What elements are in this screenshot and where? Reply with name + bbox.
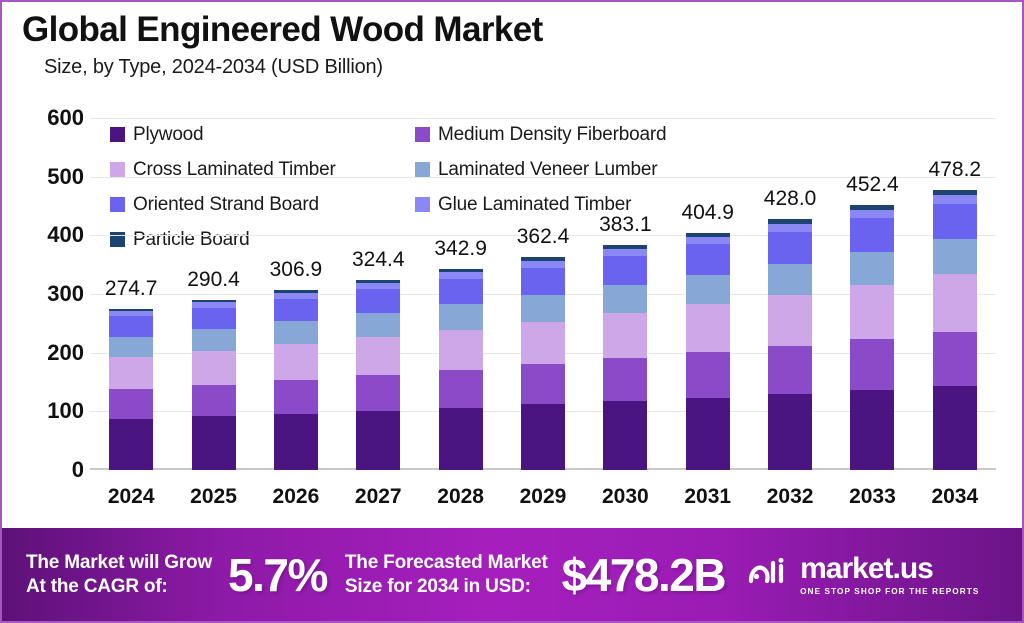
cagr-value: 5.7% bbox=[228, 548, 327, 602]
page-title: Global Engineered Wood Market bbox=[2, 10, 1024, 50]
x-axis: 2024202520262027202820292030203120322033… bbox=[90, 485, 996, 515]
bar-segment[interactable] bbox=[109, 316, 153, 337]
bar-segment[interactable] bbox=[603, 358, 647, 401]
bar-segment[interactable] bbox=[274, 344, 318, 380]
market-us-logo-icon bbox=[747, 557, 791, 592]
bar-stack[interactable]: 324.4 bbox=[356, 280, 400, 470]
bar-segment[interactable] bbox=[192, 351, 236, 385]
bar-segment[interactable] bbox=[274, 380, 318, 414]
x-axis-tick-label: 2033 bbox=[831, 485, 913, 509]
bar-stack[interactable]: 306.9 bbox=[274, 290, 318, 470]
bar-segment[interactable] bbox=[521, 364, 565, 404]
bar-segment[interactable] bbox=[686, 244, 730, 274]
cagr-caption-line2: At the CAGR of: bbox=[26, 575, 212, 598]
bar-segment[interactable] bbox=[356, 411, 400, 470]
bar-segment[interactable] bbox=[109, 419, 153, 470]
bar-segment[interactable] bbox=[850, 218, 894, 252]
bar-segment[interactable] bbox=[439, 304, 483, 329]
forecast-value: $478.2B bbox=[562, 548, 725, 602]
x-axis-tick-label: 2031 bbox=[667, 485, 749, 509]
bar-segment[interactable] bbox=[109, 389, 153, 419]
y-axis-tick-label: 200 bbox=[10, 340, 84, 366]
bar-segment[interactable] bbox=[192, 329, 236, 351]
bar-total-label: 290.4 bbox=[187, 268, 240, 292]
gridline bbox=[90, 118, 996, 119]
bar-segment[interactable] bbox=[439, 279, 483, 305]
x-axis-tick-label: 2032 bbox=[749, 485, 831, 509]
bar-stack[interactable]: 362.4 bbox=[521, 257, 565, 470]
bar-stack[interactable]: 274.7 bbox=[109, 309, 153, 470]
bar-segment[interactable] bbox=[521, 404, 565, 470]
bar-segment[interactable] bbox=[933, 239, 977, 274]
y-axis-tick-label: 400 bbox=[10, 222, 84, 248]
bar-total-label: 452.4 bbox=[846, 173, 899, 197]
bar-total-label: 478.2 bbox=[929, 158, 982, 182]
bar-segment[interactable] bbox=[768, 394, 812, 470]
y-axis: 0100200300400500600 bbox=[10, 118, 84, 470]
brand-tagline: ONE STOP SHOP FOR THE REPORTS bbox=[800, 587, 979, 596]
bar-segment[interactable] bbox=[850, 390, 894, 470]
bar-total-label: 404.9 bbox=[681, 201, 734, 225]
header: Global Engineered Wood Market Size, by T… bbox=[2, 10, 1024, 79]
bar-segment[interactable] bbox=[439, 370, 483, 408]
bar-segment[interactable] bbox=[686, 237, 730, 245]
bar-total-label: 362.4 bbox=[517, 225, 570, 249]
bar-segment[interactable] bbox=[274, 299, 318, 322]
bar-segment[interactable] bbox=[109, 357, 153, 389]
bar-segment[interactable] bbox=[933, 332, 977, 386]
x-axis-tick-label: 2029 bbox=[502, 485, 584, 509]
x-axis-tick-label: 2025 bbox=[172, 485, 254, 509]
bar-segment[interactable] bbox=[192, 308, 236, 330]
bar-segment[interactable] bbox=[356, 337, 400, 375]
forecast-caption: The Forecasted Market Size for 2034 in U… bbox=[345, 551, 548, 597]
bar-segment[interactable] bbox=[521, 295, 565, 322]
cagr-caption-line1: The Market will Grow bbox=[26, 551, 212, 574]
infographic-root: Global Engineered Wood Market Size, by T… bbox=[0, 0, 1024, 623]
bar-segment[interactable] bbox=[521, 322, 565, 365]
plot-area: 274.7290.4306.9324.4342.9362.4383.1404.9… bbox=[90, 118, 996, 470]
bar-segment[interactable] bbox=[439, 330, 483, 370]
bar-segment[interactable] bbox=[850, 252, 894, 285]
y-axis-tick-label: 600 bbox=[10, 105, 84, 131]
bar-total-label: 274.7 bbox=[105, 277, 158, 301]
x-axis-tick-label: 2028 bbox=[419, 485, 501, 509]
bar-segment[interactable] bbox=[768, 224, 812, 232]
bar-segment[interactable] bbox=[274, 414, 318, 470]
bar-segment[interactable] bbox=[356, 313, 400, 337]
bar-segment[interactable] bbox=[192, 385, 236, 417]
bar-stack[interactable]: 452.4 bbox=[850, 205, 894, 470]
bar-segment[interactable] bbox=[686, 398, 730, 471]
y-axis-tick-label: 100 bbox=[10, 398, 84, 424]
x-axis-tick-label: 2034 bbox=[914, 485, 996, 509]
bar-segment[interactable] bbox=[933, 386, 977, 470]
forecast-caption-line1: The Forecasted Market bbox=[345, 551, 548, 574]
bar-total-label: 428.0 bbox=[764, 187, 817, 211]
bar-total-label: 306.9 bbox=[270, 258, 323, 282]
x-axis-tick-label: 2026 bbox=[255, 485, 337, 509]
bar-total-label: 324.4 bbox=[352, 248, 405, 272]
bar-segment[interactable] bbox=[109, 337, 153, 358]
bar-stack[interactable]: 428.0 bbox=[768, 219, 812, 470]
bar-stack[interactable]: 383.1 bbox=[603, 245, 647, 470]
bar-stack[interactable]: 342.9 bbox=[439, 269, 483, 470]
forecast-caption-line2: Size for 2034 in USD: bbox=[345, 575, 548, 598]
bar-segment[interactable] bbox=[686, 304, 730, 352]
brand-logo: market.us ONE STOP SHOP FOR THE REPORTS bbox=[747, 554, 979, 596]
bar-segment[interactable] bbox=[686, 352, 730, 397]
bar-segment[interactable] bbox=[850, 285, 894, 339]
bar-segment[interactable] bbox=[768, 264, 812, 295]
brand-name: market.us bbox=[800, 554, 979, 584]
page-subtitle: Size, by Type, 2024-2034 (USD Billion) bbox=[2, 56, 1024, 79]
x-axis-tick-label: 2030 bbox=[584, 485, 666, 509]
bar-segment[interactable] bbox=[603, 313, 647, 358]
cagr-caption: The Market will Grow At the CAGR of: bbox=[26, 551, 212, 597]
bar-segment[interactable] bbox=[603, 249, 647, 256]
bar-stack[interactable]: 478.2 bbox=[933, 190, 977, 471]
bar-segment[interactable] bbox=[603, 285, 647, 313]
y-axis-tick-label: 500 bbox=[10, 164, 84, 190]
bar-stack[interactable]: 290.4 bbox=[192, 300, 236, 470]
bar-segment[interactable] bbox=[521, 268, 565, 295]
y-axis-tick-label: 0 bbox=[10, 457, 84, 483]
bar-stack[interactable]: 404.9 bbox=[686, 233, 730, 470]
bar-segment[interactable] bbox=[356, 375, 400, 411]
bar-segment[interactable] bbox=[768, 232, 812, 264]
bar-segment[interactable] bbox=[768, 346, 812, 394]
bar-segment[interactable] bbox=[192, 416, 236, 470]
x-axis-tick-label: 2024 bbox=[90, 485, 172, 509]
bar-segment[interactable] bbox=[768, 295, 812, 346]
bar-segment[interactable] bbox=[603, 256, 647, 285]
bar-segment[interactable] bbox=[933, 195, 977, 204]
footer-banner: The Market will Grow At the CAGR of: 5.7… bbox=[2, 528, 1024, 621]
bar-segment[interactable] bbox=[274, 321, 318, 344]
bar-segment[interactable] bbox=[356, 289, 400, 313]
bar-total-label: 342.9 bbox=[434, 237, 487, 261]
bar-segment[interactable] bbox=[933, 274, 977, 331]
bar-segment[interactable] bbox=[933, 204, 977, 240]
x-axis-tick-label: 2027 bbox=[337, 485, 419, 509]
bar-segment[interactable] bbox=[850, 339, 894, 390]
bar-total-label: 383.1 bbox=[599, 213, 652, 237]
bar-segment[interactable] bbox=[850, 210, 894, 218]
bar-segment[interactable] bbox=[439, 408, 483, 470]
bar-segment[interactable] bbox=[521, 261, 565, 268]
y-axis-tick-label: 300 bbox=[10, 281, 84, 307]
bar-segment[interactable] bbox=[603, 401, 647, 470]
bar-segment[interactable] bbox=[686, 275, 730, 305]
brand-text: market.us ONE STOP SHOP FOR THE REPORTS bbox=[800, 554, 979, 596]
